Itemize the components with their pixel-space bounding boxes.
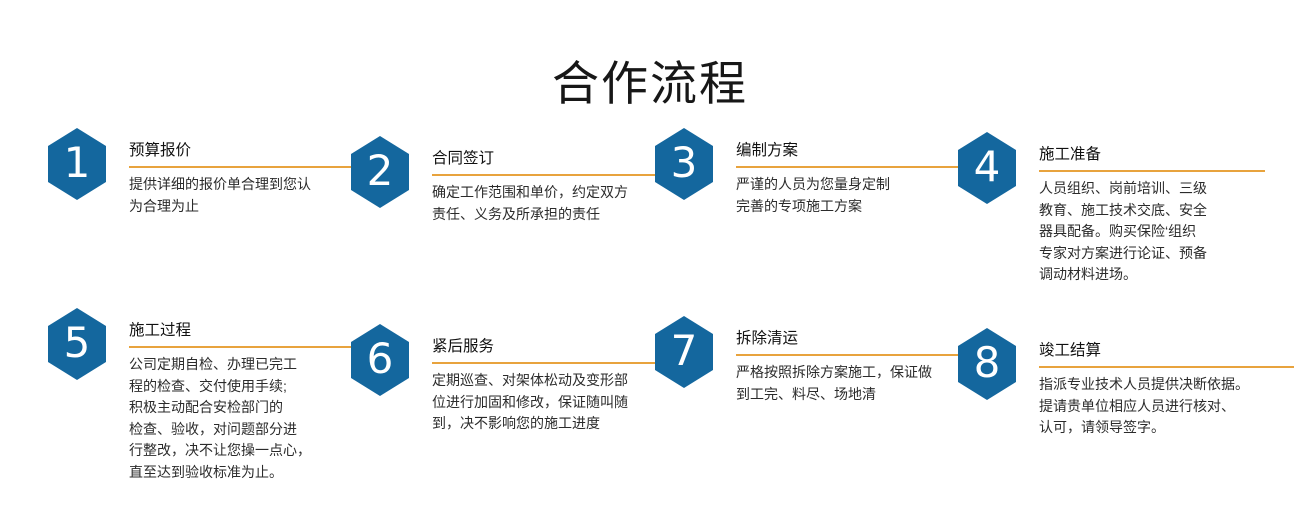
step-heading: 预算报价 (129, 141, 354, 161)
step-body: 指派专业技术人员提供决断依据。 提请贵单位相应人员进行核对、 认可，请领导签字。 (1039, 374, 1294, 439)
step-text-block: 编制方案 严谨的人员为您量身定制 完善的专项施工方案 (713, 128, 972, 217)
page-title: 合作流程 (0, 53, 1300, 115)
hexagon-icon: 2 (351, 136, 409, 208)
step-text-block: 施工过程 公司定期自检、办理已完工 程的检查、交付使用手续; 积极主动配合安检部… (106, 308, 354, 483)
hexagon-icon: 1 (48, 128, 106, 200)
step-text-block: 预算报价 提供详细的报价单合理到您认 为合理为止 (106, 128, 354, 217)
step-number: 6 (367, 338, 394, 380)
step-number: 3 (671, 142, 698, 184)
hexagon-badge-3: 3 (655, 128, 713, 200)
steps-row-1: 1 预算报价 提供详细的报价单合理到您认 为合理为止 2 合同签订 (0, 128, 1300, 308)
hexagon-icon: 7 (655, 316, 713, 388)
step-item-3[interactable]: 3 编制方案 严谨的人员为您量身定制 完善的专项施工方案 (655, 128, 972, 217)
step-heading: 拆除清运 (736, 329, 991, 349)
step-body: 定期巡查、对架体松动及变形部 位进行加固和修改，保证随叫随 到，决不影响您的施工… (432, 370, 687, 435)
step-heading: 施工过程 (129, 321, 354, 341)
step-number: 2 (367, 150, 394, 192)
step-text-block: 竣工结算 指派专业技术人员提供决断依据。 提请贵单位相应人员进行核对、 认可，请… (1016, 328, 1294, 439)
step-number: 8 (974, 342, 1001, 384)
step-item-2[interactable]: 2 合同签订 确定工作范围和单价，约定双方 责任、义务及所承担的责任 (351, 136, 687, 225)
steps-grid: 1 预算报价 提供详细的报价单合理到您认 为合理为止 2 合同签订 (0, 128, 1300, 508)
step-item-4[interactable]: 4 施工准备 人员组织、岗前培训、三级 教育、施工技术交底、安全 器具配备。购买… (958, 132, 1265, 286)
step-text-block: 合同签订 确定工作范围和单价，约定双方 责任、义务及所承担的责任 (409, 136, 687, 225)
step-underline-rule (736, 354, 991, 356)
step-underline-rule (736, 166, 972, 168)
cooperation-process-infographic: 合作流程 1 预算报价 提供详细的报价单合理到您认 为合理为止 (0, 0, 1300, 532)
hexagon-icon: 4 (958, 132, 1016, 204)
hexagon-badge-8: 8 (958, 328, 1016, 400)
hexagon-icon: 8 (958, 328, 1016, 400)
hexagon-badge-1: 1 (48, 128, 106, 200)
hexagon-badge-2: 2 (351, 136, 409, 208)
step-number: 1 (64, 142, 91, 184)
step-body: 确定工作范围和单价，约定双方 责任、义务及所承担的责任 (432, 182, 687, 225)
step-text-block: 拆除清运 严格按照拆除方案施工，保证做 到工完、料尽、场地清 (713, 316, 991, 405)
step-underline-rule (432, 362, 687, 364)
step-text-block: 施工准备 人员组织、岗前培训、三级 教育、施工技术交底、安全 器具配备。购买保险… (1016, 132, 1265, 286)
step-underline-rule (129, 346, 354, 348)
step-item-7[interactable]: 7 拆除清运 严格按照拆除方案施工，保证做 到工完、料尽、场地清 (655, 316, 991, 405)
steps-row-2: 5 施工过程 公司定期自检、办理已完工 程的检查、交付使用手续; 积极主动配合安… (0, 308, 1300, 508)
step-body: 严谨的人员为您量身定制 完善的专项施工方案 (736, 174, 972, 217)
step-number: 5 (64, 322, 91, 364)
step-body: 人员组织、岗前培训、三级 教育、施工技术交底、安全 器具配备。购买保险‘组织 专… (1039, 178, 1265, 286)
step-underline-rule (432, 174, 687, 176)
step-underline-rule (129, 166, 354, 168)
step-heading: 合同签订 (432, 149, 687, 169)
step-text-block: 紧后服务 定期巡查、对架体松动及变形部 位进行加固和修改，保证随叫随 到，决不影… (409, 324, 687, 435)
step-heading: 施工准备 (1039, 145, 1265, 165)
step-number: 7 (671, 330, 698, 372)
step-underline-rule (1039, 170, 1265, 172)
step-item-8[interactable]: 8 竣工结算 指派专业技术人员提供决断依据。 提请贵单位相应人员进行核对、 认可… (958, 328, 1294, 439)
step-item-6[interactable]: 6 紧后服务 定期巡查、对架体松动及变形部 位进行加固和修改，保证随叫随 到，决… (351, 324, 687, 435)
step-heading: 编制方案 (736, 141, 972, 161)
hexagon-badge-4: 4 (958, 132, 1016, 204)
hexagon-icon: 5 (48, 308, 106, 380)
step-number: 4 (974, 146, 1001, 188)
step-body: 提供详细的报价单合理到您认 为合理为止 (129, 174, 354, 217)
step-item-1[interactable]: 1 预算报价 提供详细的报价单合理到您认 为合理为止 (48, 128, 354, 217)
hexagon-badge-7: 7 (655, 316, 713, 388)
step-body: 严格按照拆除方案施工，保证做 到工完、料尽、场地清 (736, 362, 991, 405)
step-item-5[interactable]: 5 施工过程 公司定期自检、办理已完工 程的检查、交付使用手续; 积极主动配合安… (48, 308, 354, 483)
hexagon-icon: 3 (655, 128, 713, 200)
step-heading: 竣工结算 (1039, 341, 1294, 361)
hexagon-icon: 6 (351, 324, 409, 396)
hexagon-badge-6: 6 (351, 324, 409, 396)
step-underline-rule (1039, 366, 1294, 368)
step-heading: 紧后服务 (432, 337, 687, 357)
step-body: 公司定期自检、办理已完工 程的检查、交付使用手续; 积极主动配合安检部门的 检查… (129, 354, 354, 483)
hexagon-badge-5: 5 (48, 308, 106, 380)
